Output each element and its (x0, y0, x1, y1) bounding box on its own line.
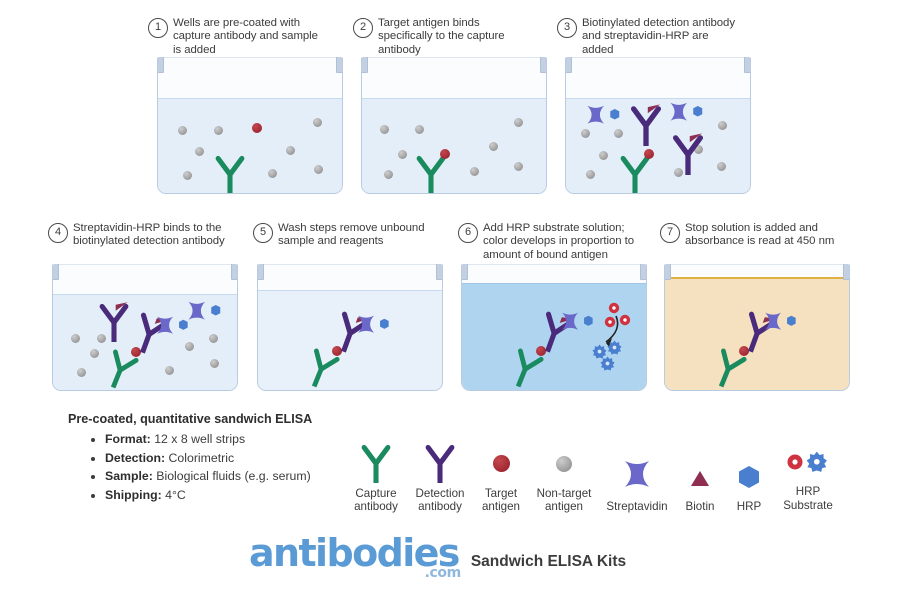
hrp-substrate-product (604, 316, 616, 328)
spec-value: Biological fluids (e.g. serum) (156, 469, 310, 483)
well-tab-left (565, 57, 572, 73)
legend-item-target-antigen: Target antigen (473, 424, 529, 513)
spec-item: Format: 12 x 8 well strips (105, 430, 311, 449)
step-caption-5: 5 Wash steps remove unbound sample and r… (253, 222, 439, 249)
legend-label: Biotin (685, 500, 714, 513)
elisa-diagram: 1 Wells are pre-coated with capture anti… (0, 0, 900, 594)
hrp-substrate-icon (786, 426, 830, 481)
well-tab-left (157, 57, 164, 73)
well-tab-right (843, 264, 850, 280)
spec-value: Colorimetric (169, 451, 235, 465)
footer-brand: antibodies .com Sandwich ELISA Kits (249, 534, 626, 572)
non-target-antigen (71, 334, 80, 343)
legend-item-non-target-antigen: Non-target antigen (529, 424, 599, 513)
well-tab-right (336, 57, 343, 73)
non-target-antigen (586, 170, 595, 179)
well-step-3 (565, 57, 751, 194)
non-target-antigen (470, 167, 479, 176)
hrp-substrate-product (619, 314, 631, 326)
well-body (361, 57, 547, 194)
legend-item-hrp-substrate: HRP Substrate (773, 426, 843, 513)
spec-value: 4°C (165, 488, 186, 502)
well-tab-left (361, 57, 368, 73)
spec-heading: Pre-coated, quantitative sandwich ELISA (68, 412, 312, 426)
well-step-2 (361, 57, 547, 194)
step-caption-6: 6 Add HRP substrate solution; color deve… (458, 222, 648, 262)
non-target-antigen (214, 126, 223, 135)
spec-label: Format: (105, 432, 151, 446)
step-description: Add HRP substrate solution; color develo… (483, 222, 648, 262)
well-tab-left (52, 264, 59, 280)
well-tab-right (744, 57, 751, 73)
detection-antibody (670, 129, 706, 175)
streptavidin-hrp-bound (761, 310, 803, 333)
step-description: Streptavidin-HRP binds to the biotinylat… (73, 222, 238, 249)
step-description: Wash steps remove unbound sample and rea… (278, 222, 439, 249)
target-antigen (252, 123, 262, 133)
legend-label: Detection antibody (407, 487, 473, 513)
streptavidin-hrp-bound (354, 313, 396, 336)
non-target-antigen (185, 342, 194, 351)
step-number-badge: 5 (253, 223, 273, 243)
spec-label: Sample: (105, 469, 153, 483)
legend-item-biotin: Biotin (675, 439, 725, 513)
well-rim (52, 264, 238, 265)
well-tab-left (664, 264, 671, 280)
well-rim (565, 57, 751, 58)
non-target-antigen (268, 169, 277, 178)
well-rim (461, 264, 647, 265)
streptavidin-hrp-complex (666, 100, 710, 124)
well-tab-right (540, 57, 547, 73)
legend-label: Target antigen (473, 487, 529, 513)
streptavidin-hrp-bound (153, 314, 195, 337)
non-target-antigen (77, 368, 86, 377)
well-tab-right (640, 264, 647, 280)
non-target-antigen (209, 334, 218, 343)
well-body (157, 57, 343, 194)
well-tab-left (257, 264, 264, 280)
spec-label: Shipping: (105, 488, 162, 502)
well-headspace (665, 264, 849, 277)
well-step-5 (257, 264, 443, 391)
well-rim (257, 264, 443, 265)
legend-label: Non-target antigen (529, 487, 599, 513)
detection-antibody (628, 100, 664, 146)
non-target-antigen (614, 129, 623, 138)
step-number-badge: 7 (660, 223, 680, 243)
well-body (52, 264, 238, 391)
step-caption-1: 1 Wells are pre-coated with capture anti… (148, 17, 324, 57)
spec-list: Format: 12 x 8 well strips Detection: Co… (88, 430, 311, 504)
non-target-antigen (514, 162, 523, 171)
hrp-icon (738, 441, 760, 496)
biotin-icon (690, 439, 710, 496)
non-target-antigen (165, 366, 174, 375)
step-description: Stop solution is added and absorbance is… (685, 222, 852, 249)
step-number-badge: 1 (148, 18, 168, 38)
spec-value: 12 x 8 well strips (154, 432, 245, 446)
well-headspace (566, 57, 750, 98)
well-step-4 (52, 264, 238, 391)
brand-dotcom: .com (425, 565, 461, 581)
legend-item-streptavidin: Streptavidin (599, 443, 675, 513)
well-headspace (362, 57, 546, 98)
step-number-badge: 4 (48, 223, 68, 243)
non-target-antigen (313, 118, 322, 127)
non-target-antigen (717, 162, 726, 171)
non-target-antigen (514, 118, 523, 127)
step-number-badge: 6 (458, 223, 478, 243)
non-target-antigen (489, 142, 498, 151)
legend-label: Streptavidin (606, 500, 667, 513)
step-caption-7: 7 Stop solution is added and absorbance … (660, 222, 852, 249)
legend-label: HRP Substrate (773, 485, 843, 513)
non-target-antigen (380, 125, 389, 134)
well-headspace (258, 264, 442, 290)
well-headspace (158, 57, 342, 98)
well-body (565, 57, 751, 194)
well-rim (361, 57, 547, 58)
step-description: Biotinylated detection antibody and stre… (582, 17, 743, 57)
non-target-antigen (599, 151, 608, 160)
well-headspace (462, 264, 646, 283)
non-target-antigen-icon (556, 424, 572, 483)
non-target-antigen (178, 126, 187, 135)
legend: Capture antibody Detection antibody Targ… (345, 424, 843, 513)
detection-antibody (97, 298, 131, 342)
detection-antibody-icon (423, 435, 457, 483)
spec-item: Shipping: 4°C (105, 486, 311, 505)
well-body (461, 264, 647, 391)
non-target-antigen (210, 359, 219, 368)
well-body (664, 264, 850, 391)
legend-label: HRP (737, 500, 761, 513)
capture-antibody (213, 150, 247, 194)
non-target-antigen (90, 349, 99, 358)
non-target-antigen (183, 171, 192, 180)
non-target-antigen (718, 121, 727, 130)
spec-label: Detection: (105, 451, 165, 465)
non-target-antigen (581, 129, 590, 138)
hrp-substrate (607, 340, 622, 355)
target-antigen-bound (440, 149, 450, 159)
well-tab-left (461, 264, 468, 280)
step-caption-4: 4 Streptavidin-HRP binds to the biotinyl… (48, 222, 238, 249)
legend-item-detection-antibody: Detection antibody (407, 435, 473, 513)
step-number-badge: 2 (353, 18, 373, 38)
well-body (257, 264, 443, 391)
well-step-6 (461, 264, 647, 391)
spec-item: Sample: Biological fluids (e.g. serum) (105, 467, 311, 486)
non-target-antigen (195, 147, 204, 156)
legend-label: Capture antibody (345, 487, 407, 513)
step-caption-3: 3 Biotinylated detection antibody and st… (557, 17, 743, 57)
step-description: Target antigen binds specifically to the… (378, 17, 535, 57)
well-headspace (53, 264, 237, 294)
target-antigen-icon (493, 424, 510, 483)
step-caption-2: 2 Target antigen binds specifically to t… (353, 17, 535, 57)
non-target-antigen (398, 150, 407, 159)
brand-tagline: Sandwich ELISA Kits (471, 553, 626, 571)
step-description: Wells are pre-coated with capture antibo… (173, 17, 324, 57)
legend-item-hrp: HRP (725, 441, 773, 513)
streptavidin-hrp-complex (583, 103, 627, 127)
hrp-substrate-product (608, 302, 620, 314)
well-tab-right (231, 264, 238, 280)
non-target-antigen (415, 125, 424, 134)
well-rim (157, 57, 343, 58)
well-step-1 (157, 57, 343, 194)
non-target-antigen (314, 165, 323, 174)
legend-item-capture-antibody: Capture antibody (345, 435, 407, 513)
well-liquid (362, 99, 546, 193)
hrp-substrate (600, 356, 615, 371)
well-rim (664, 264, 850, 265)
step-number-badge: 3 (557, 18, 577, 38)
capture-antibody-icon (359, 435, 393, 483)
well-step-7 (664, 264, 850, 391)
non-target-antigen (286, 146, 295, 155)
non-target-antigen (384, 170, 393, 179)
well-tab-right (436, 264, 443, 280)
spec-item: Detection: Colorimetric (105, 449, 311, 468)
streptavidin-icon (620, 443, 654, 496)
target-antigen-bound (644, 149, 654, 159)
